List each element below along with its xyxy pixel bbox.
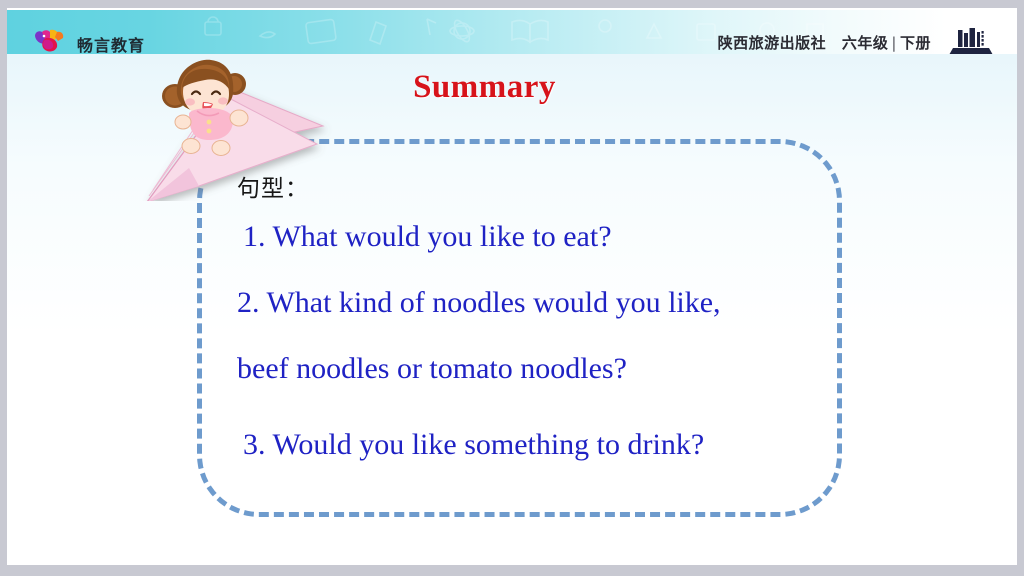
publisher-separator: | [888,34,900,52]
content-block: 句型： 1. What would you like to eat? 2. Wh… [229,176,829,460]
bird-logo-icon [33,29,67,54]
publisher-name: 陕西旅游出版社 [718,34,827,52]
sentence-item-2-continued: beef noodles or tomato noodles? [237,354,829,384]
publisher-info: 陕西旅游出版社 六年级|下册 [718,32,931,53]
presentation-window: 畅言教育 陕西旅游出版社 六年级|下册 Summary [0,0,1024,576]
slide-title-text: Summary [413,69,556,106]
volume-label: 下册 [900,34,931,52]
app-header-band: 畅言教育 陕西旅游出版社 六年级|下册 [7,10,1017,54]
sentence-pattern-label: 句型： [237,176,829,204]
sentence-item-3: 3. Would you like something to drink? [243,430,829,460]
book-stack-icon [949,26,993,54]
sentence-item-2: 2. What kind of noodles would you like, [237,288,829,318]
brand-name: 畅言教育 [77,32,145,54]
sentence-item-1: 1. What would you like to eat? [243,222,829,252]
grade-label: 六年级 [842,34,889,52]
slide-canvas: 畅言教育 陕西旅游出版社 六年级|下册 Summary [7,8,1017,565]
